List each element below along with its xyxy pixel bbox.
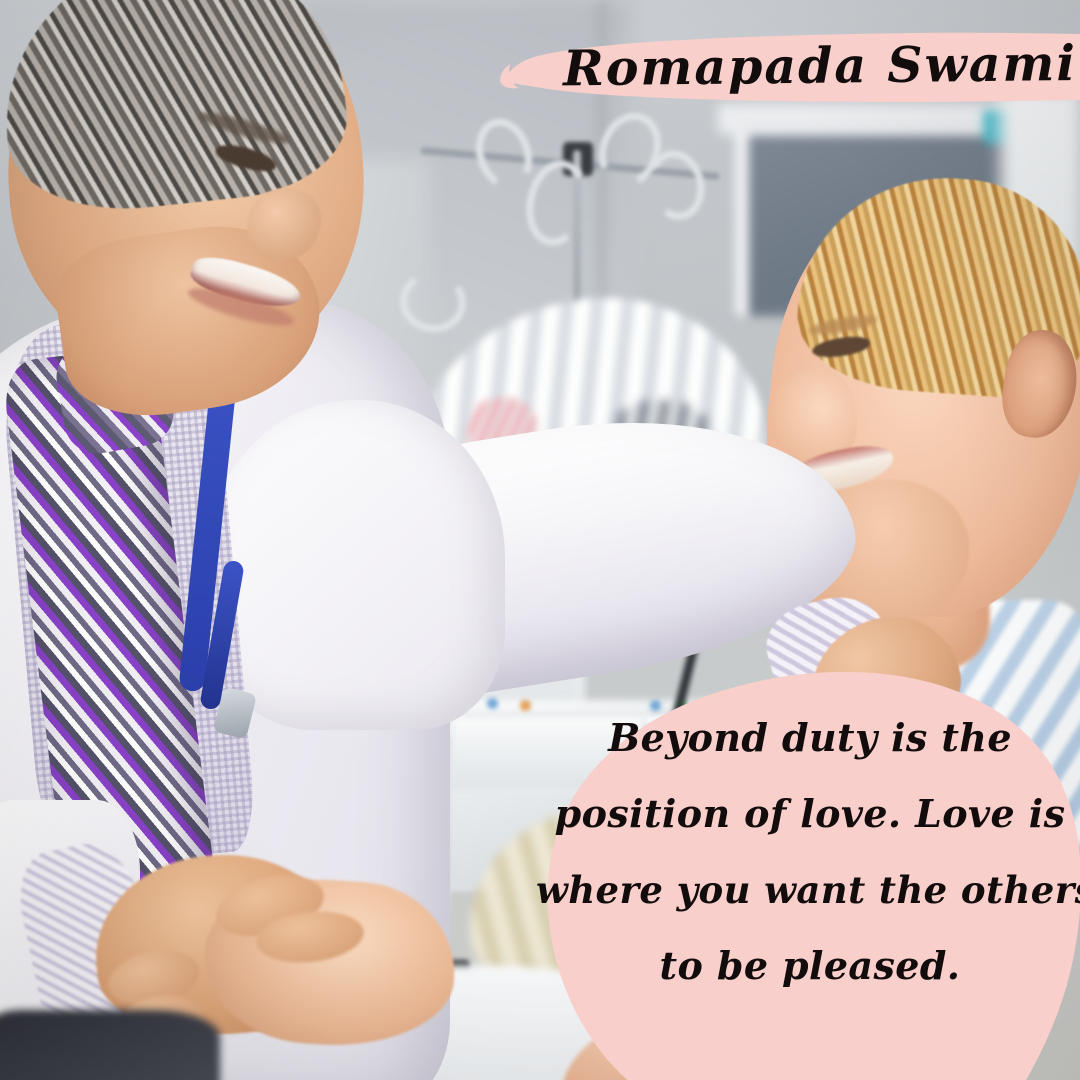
quote-card: Romapada Swami Beyond duty is the positi… (0, 0, 1080, 1080)
swami-name: Romapada Swami (498, 23, 1080, 109)
status-led (487, 698, 498, 709)
quote-line: position of love. Love is (536, 776, 1080, 852)
doctor-shoulder (205, 400, 505, 730)
foreground-shadow (0, 1010, 220, 1080)
quote-text: Beyond duty is the position of love. Lov… (536, 700, 1080, 1004)
quote-line: to be pleased. (536, 928, 1080, 1004)
quote-line: Beyond duty is the (536, 700, 1080, 776)
name-banner: Romapada Swami (498, 26, 1080, 106)
quote-line: where you want the others (536, 852, 1080, 928)
status-led (520, 700, 531, 711)
